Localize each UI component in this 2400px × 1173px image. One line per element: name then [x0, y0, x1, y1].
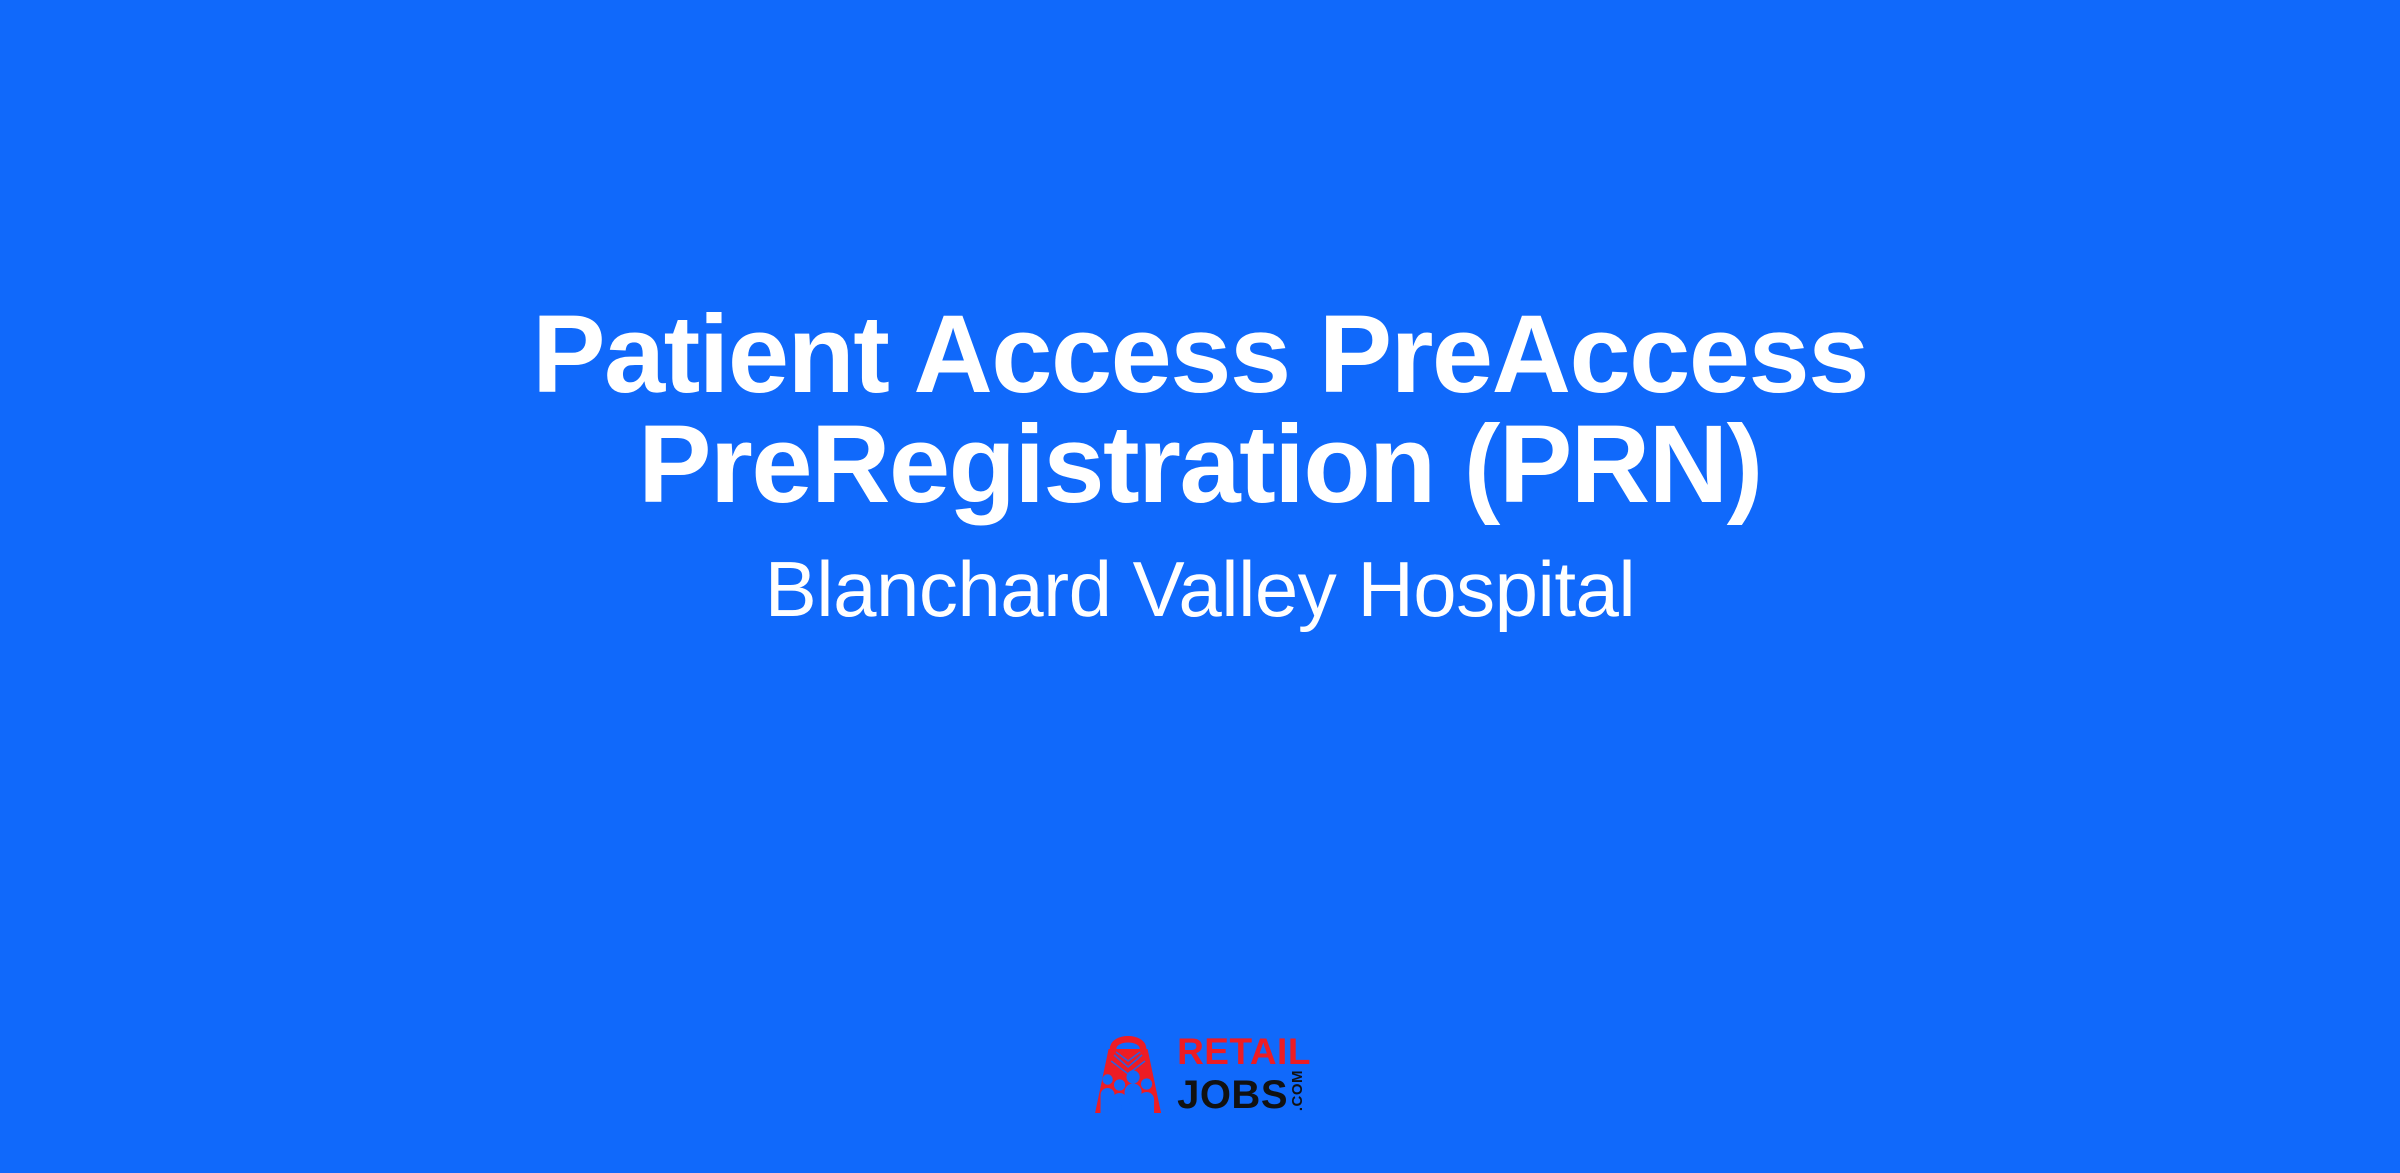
shopping-bag-with-people-icon	[1089, 1027, 1167, 1113]
logo-jobs-text: JOBS	[1177, 1076, 1288, 1114]
job-share-card: Patient Access PreAccess PreRegistration…	[0, 0, 2400, 1173]
retailjobs-logo[interactable]: RETAIL JOBS .COM	[1089, 1025, 1311, 1115]
logo-jobs-row: JOBS .COM	[1177, 1070, 1311, 1113]
page-title: Patient Access PreAccess PreRegistration…	[450, 300, 1950, 520]
logo-retail-text: RETAIL	[1177, 1034, 1311, 1070]
logo-wordmark: RETAIL JOBS .COM	[1177, 1027, 1311, 1113]
company-name: Blanchard Valley Hospital	[765, 520, 1636, 628]
job-header-text: Patient Access PreAccess PreRegistration…	[0, 300, 2400, 628]
logo-dotcom-text: .COM	[1290, 1070, 1305, 1111]
